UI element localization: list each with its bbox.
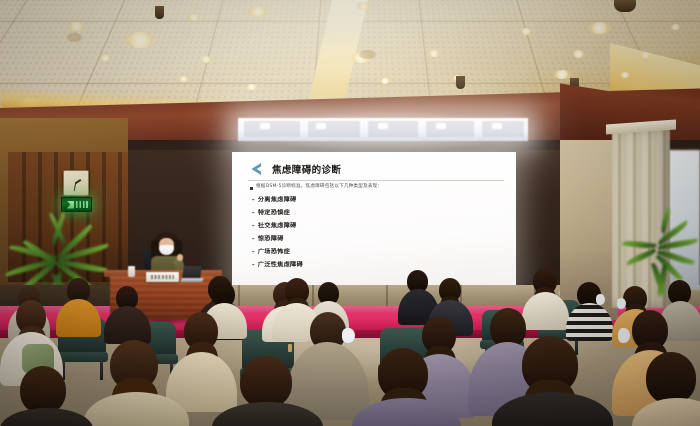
downlight [68, 22, 85, 31]
downlight-off [358, 50, 377, 59]
downlight [246, 84, 257, 90]
audience-member [632, 352, 700, 426]
slide-list-item: 广泛性焦虑障碍 [252, 259, 504, 269]
exit-running-man-glyph [65, 201, 74, 209]
downlight [553, 70, 571, 79]
downlight [588, 22, 611, 34]
downlight [572, 50, 585, 58]
audience-member [104, 286, 150, 342]
downlight [178, 76, 189, 82]
backlit-sign-band [238, 118, 528, 141]
slide-title: 焦虑障碍的诊断 [272, 162, 341, 176]
slide-divider [248, 180, 504, 181]
downlight [356, 2, 371, 10]
downlight [670, 24, 681, 30]
drinking-cup [128, 266, 135, 277]
downlight [380, 78, 390, 84]
downlight [124, 32, 156, 48]
slide-list-item: 社交焦虑障碍 [252, 220, 504, 230]
audience-member [84, 340, 188, 426]
slide-bullet-list: 分离焦虑障碍 特定恐惧症 社交焦虑障碍 惊恐障碍 广场恐怖症 广泛性焦虑障碍 [248, 194, 504, 268]
downlight [640, 52, 651, 58]
audience-member [566, 282, 612, 340]
slide-list-item: 广场恐怖症 [252, 246, 504, 256]
ceiling-fan-mount-icon [614, 0, 636, 12]
downlight [200, 56, 212, 63]
ceiling-speaker-icon [456, 76, 465, 89]
downlight [520, 28, 532, 35]
wall-clock-icon [63, 170, 89, 196]
ceiling-speaker-icon [155, 6, 164, 19]
slide-lead-text: 根据DSM-5诊断标准，焦虑障碍包括以下几种类型及表现： [256, 184, 382, 190]
slide-list-item: 分离焦虑障碍 [252, 194, 504, 204]
downlight [428, 50, 440, 57]
audience-member [0, 366, 92, 426]
slide-header: 焦虑障碍的诊断 [248, 162, 504, 176]
audience-member [492, 336, 612, 426]
audience-member [352, 348, 460, 426]
bullet-dot-icon [250, 187, 253, 190]
presentation-slide: 焦虑障碍的诊断 根据DSM-5诊断标准，焦虑障碍包括以下几种类型及表现： 分离焦… [232, 152, 516, 294]
downlight [620, 72, 630, 78]
audience-member [212, 356, 322, 426]
chevron-left-icon [248, 162, 264, 176]
downlight-off [66, 33, 83, 42]
slide-lead-bullet: 根据DSM-5诊断标准，焦虑障碍包括以下几种类型及表现： [250, 184, 504, 190]
nameplate [146, 272, 179, 282]
downlight [248, 6, 268, 17]
speaker-hand [177, 254, 183, 261]
exit-sign-icon [61, 197, 92, 212]
downlight [188, 14, 200, 21]
exit-sign-text [76, 201, 88, 208]
slide-list-item: 特定恐惧症 [252, 207, 504, 217]
projection-screen: 焦虑障碍的诊断 根据DSM-5诊断标准，焦虑障碍包括以下几种类型及表现： 分离焦… [232, 152, 516, 294]
downlight [100, 55, 111, 61]
lecture-hall-photo: 焦虑障碍的诊断 根据DSM-5诊断标准，焦虑障碍包括以下几种类型及表现： 分离焦… [0, 0, 700, 426]
slide-list-item: 惊恐障碍 [252, 233, 504, 243]
audience-member [56, 278, 100, 336]
